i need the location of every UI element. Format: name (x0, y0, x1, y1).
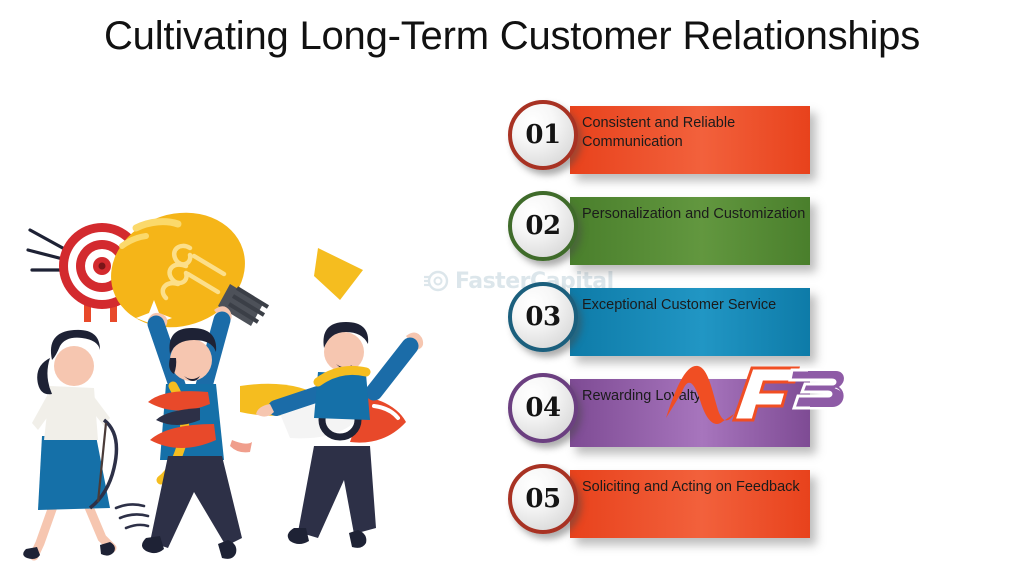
step-badge[interactable]: 04 (508, 373, 578, 443)
step-label: Soliciting and Acting on Feedback (582, 478, 806, 497)
step-badge[interactable]: 05 (508, 464, 578, 534)
step-number: 04 (525, 393, 560, 423)
list-item[interactable]: Personalization and Customization 02 (500, 191, 830, 273)
steps-list: Consistent and Reliable Communication 01… (500, 100, 830, 555)
page-title: Cultivating Long-Term Customer Relations… (0, 14, 1024, 59)
step-number: 01 (525, 120, 560, 150)
teamwork-idea-illustration (18, 208, 438, 563)
step-label: Consistent and Reliable Communication (582, 114, 806, 152)
step-number: 05 (525, 484, 560, 514)
step-label: Exceptional Customer Service (582, 296, 806, 315)
step-badge[interactable]: 03 (508, 282, 578, 352)
step-label: Rewarding Loyalty (582, 387, 806, 406)
list-item[interactable]: Consistent and Reliable Communication 01 (500, 100, 830, 182)
step-number: 03 (525, 302, 560, 332)
step-badge[interactable]: 01 (508, 100, 578, 170)
woman-with-bow-figure (23, 330, 116, 559)
step-number: 02 (525, 211, 560, 241)
list-item[interactable]: Rewarding Loyalty 04 (500, 373, 830, 455)
step-label: Personalization and Customization (582, 205, 806, 224)
step-badge[interactable]: 02 (508, 191, 578, 261)
list-item[interactable]: Exceptional Customer Service 03 (500, 282, 830, 364)
list-item[interactable]: Soliciting and Acting on Feedback 05 (500, 464, 830, 546)
megaphone-icon (314, 248, 363, 300)
